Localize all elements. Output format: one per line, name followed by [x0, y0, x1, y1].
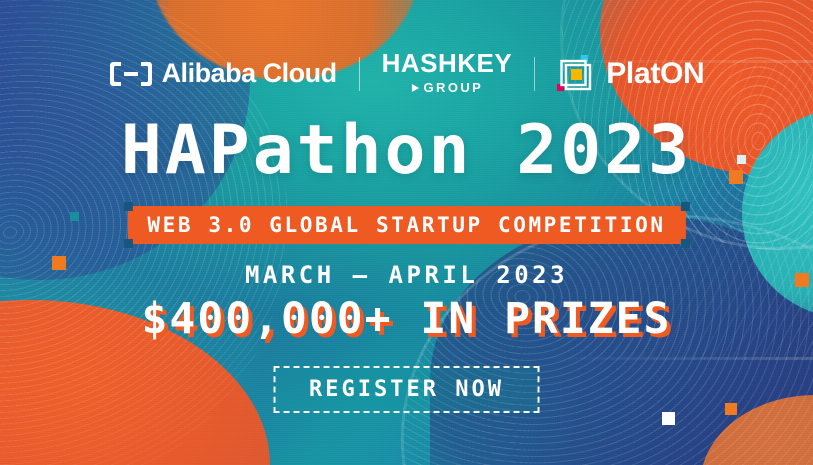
logo-divider-2	[534, 57, 535, 91]
hashkey-group-label: GROUP	[424, 81, 484, 94]
subtitle-label: WEB 3.0 GLOBAL STARTUP COMPETITION	[147, 215, 665, 236]
banner-notch-bottom-left	[123, 239, 132, 248]
register-now-label: REGISTER NOW	[309, 377, 504, 402]
partner-logo-row: Alibaba Cloud HASHKEY GROUP	[0, 50, 813, 97]
prize-amount: $400,000+ IN PRIZES	[0, 294, 813, 344]
hashkey-triangle-marker-icon	[411, 78, 420, 97]
platon-wordmark: PlatON	[606, 57, 704, 91]
promotional-banner: Alibaba Cloud HASHKEY GROUP	[0, 0, 813, 465]
hashkey-group-row: GROUP	[411, 78, 484, 97]
banner-notch-bottom-right	[681, 239, 690, 248]
register-now-button[interactable]: REGISTER NOW	[273, 366, 540, 413]
hashkey-wordmark: HASHKEY	[382, 50, 513, 76]
event-dates: MARCH – APRIL 2023	[0, 261, 813, 289]
subtitle-banner: WEB 3.0 GLOBAL STARTUP COMPETITION	[127, 206, 685, 244]
platon-square-mark-icon	[557, 55, 595, 93]
banner-notch-top-left	[123, 202, 132, 211]
logo-divider-1	[359, 57, 360, 91]
logo-platon[interactable]: PlatON	[557, 55, 704, 93]
alibaba-cloud-mark-icon	[109, 61, 153, 87]
page-title: HAPathon 2023	[0, 117, 813, 185]
banner-notch-top-right	[681, 202, 690, 211]
alibaba-cloud-wordmark: Alibaba Cloud	[162, 58, 337, 89]
logo-hashkey-group[interactable]: HASHKEY GROUP	[382, 50, 513, 97]
logo-alibaba-cloud[interactable]: Alibaba Cloud	[109, 58, 337, 89]
